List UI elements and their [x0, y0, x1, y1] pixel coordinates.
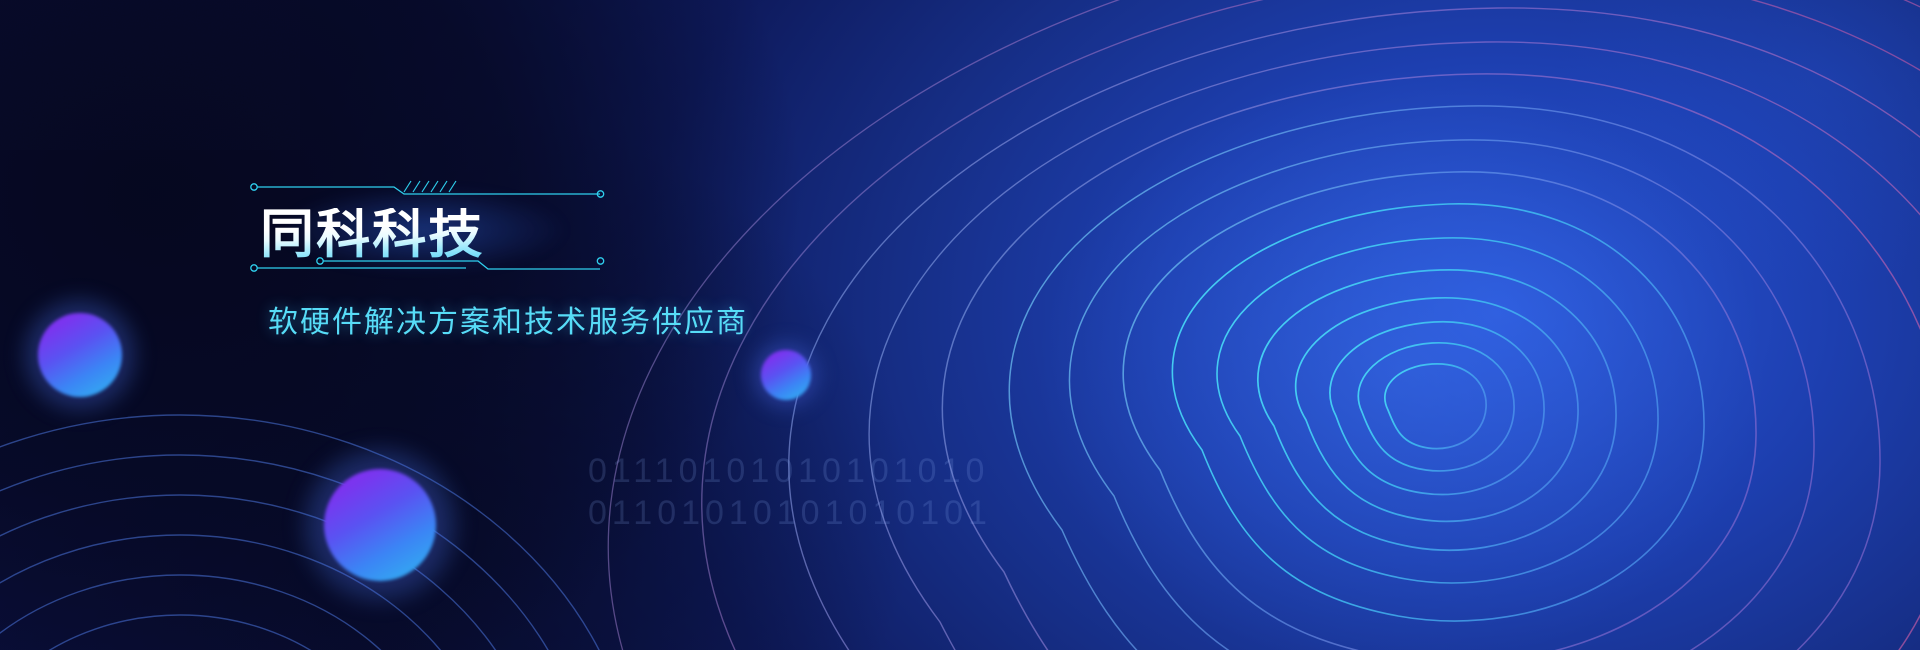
- sphere-left: [38, 313, 122, 397]
- sphere-bottom-core: [324, 469, 436, 581]
- contour-svg: [740, 0, 1920, 650]
- sphere-left-core: [38, 313, 122, 397]
- contour-ring-group: [608, 0, 1920, 650]
- arc-svg: [0, 385, 590, 650]
- sphere-bottom: [324, 469, 436, 581]
- brand-title: 同科科技: [260, 208, 607, 262]
- circuit-line-top: [251, 181, 604, 197]
- brand-subtitle: 软硬件解决方案和技术服务供应商: [268, 303, 748, 343]
- node-dot-icon: [251, 265, 257, 271]
- node-dot-icon: [251, 184, 257, 190]
- brand-title-block: 同科科技 同科科技: [248, 180, 608, 276]
- hero-banner: 01110101010101010 01101010101010101: [0, 0, 1920, 650]
- binary-text-line-1: 01110101010101010: [588, 452, 989, 491]
- concentric-arc-graphic: [0, 385, 590, 650]
- hatch-marks-top: [404, 181, 456, 192]
- sphere-mid-core: [761, 350, 811, 400]
- binary-text-line-2: 01101010101010101: [588, 494, 992, 533]
- sphere-mid: [761, 350, 811, 400]
- topographic-contour-graphic: [740, 0, 1920, 650]
